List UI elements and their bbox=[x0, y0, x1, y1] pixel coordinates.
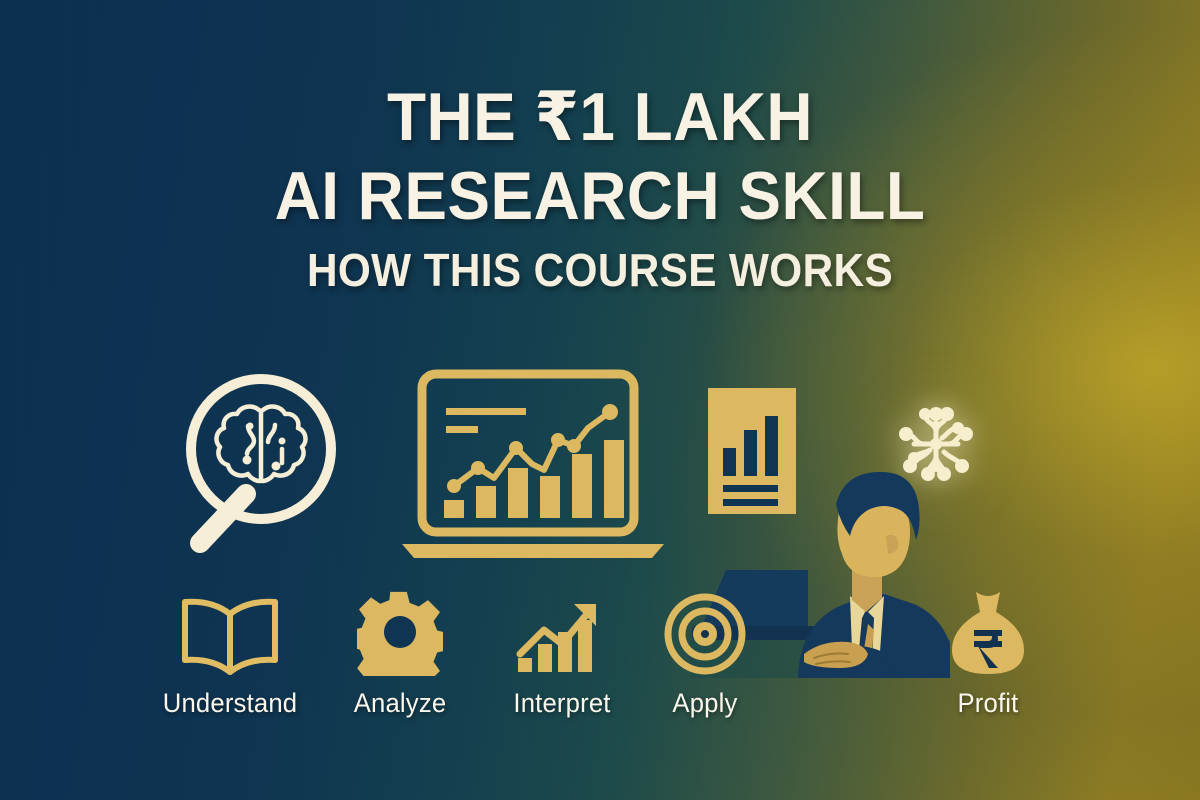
target-icon bbox=[615, 596, 795, 676]
laptop-chart-icon bbox=[398, 368, 668, 564]
step-item-profit[interactable]: Profit bbox=[898, 596, 1078, 719]
step-label-apply: Apply bbox=[620, 688, 791, 719]
step-item-analyze[interactable]: Analyze bbox=[310, 596, 490, 719]
magnifier-brain-icon bbox=[128, 363, 338, 563]
step-item-apply[interactable]: Apply bbox=[615, 596, 795, 719]
open-book-icon bbox=[140, 596, 320, 676]
step-label-profit: Profit bbox=[903, 688, 1074, 719]
headline-block: THE ₹1 LAKH AI RESEARCH SKILL HOW THIS C… bbox=[0, 84, 1200, 293]
page-title-line-1: THE ₹1 LAKH bbox=[36, 84, 1164, 151]
page-subtitle: HOW THIS COURSE WORKS bbox=[48, 247, 1152, 293]
step-label-understand: Understand bbox=[145, 688, 316, 719]
page-title-line-2: AI RESEARCH SKILL bbox=[36, 163, 1164, 230]
step-item-understand[interactable]: Understand bbox=[140, 596, 320, 719]
gear-icon bbox=[310, 596, 490, 676]
money-bag-rupee-icon bbox=[898, 596, 1078, 676]
promo-graphic-canvas: THE ₹1 LAKH AI RESEARCH SKILL HOW THIS C… bbox=[0, 0, 1200, 800]
step-label-analyze: Analyze bbox=[315, 688, 486, 719]
process-steps-row: Understand Analyze bbox=[0, 596, 1200, 756]
